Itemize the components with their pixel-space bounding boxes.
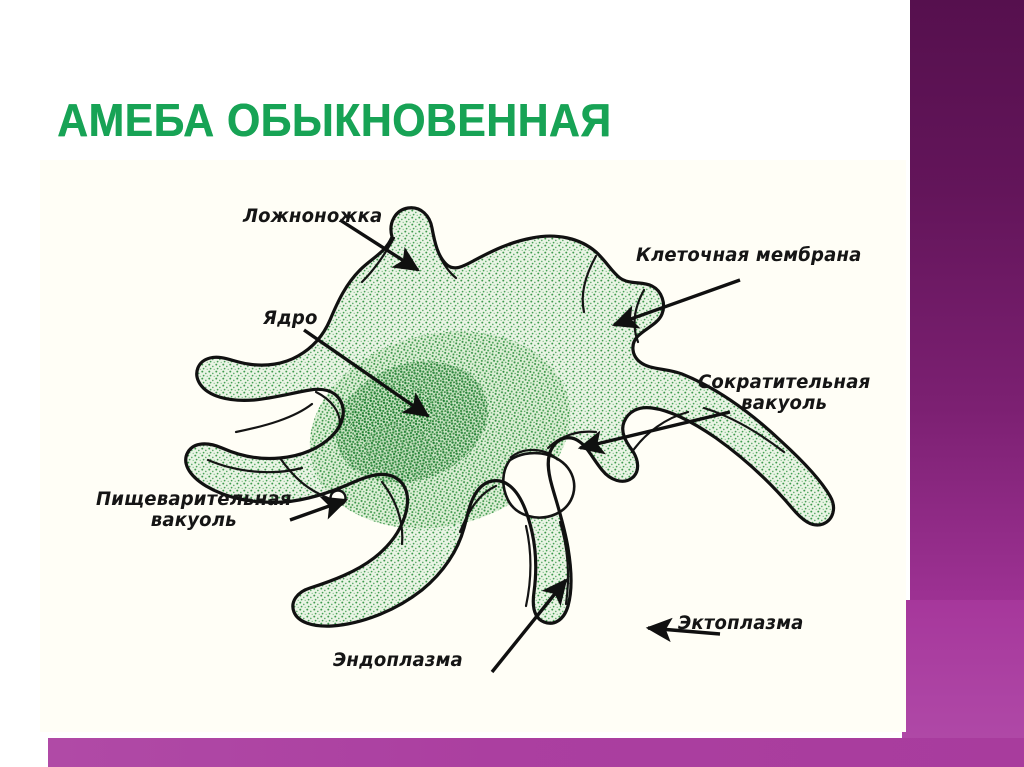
label-digestive-vacuole-line1: Пищеварительная (96, 489, 292, 510)
label-contractile-vacuole-line1: Сократительная (698, 372, 870, 393)
label-nucleus: Ядро (263, 308, 318, 329)
label-contractile-vacuole: Сократительная вакуоль (698, 372, 870, 413)
label-digestive-vacuole: Пищеварительная вакуоль (96, 489, 292, 530)
slide-canvas: АМЕБА ОБЫКНОВЕННАЯ (0, 0, 1024, 767)
bottom-purple-bar (48, 738, 1024, 767)
label-ectoplasm: Эктоплазма (678, 613, 804, 634)
label-pseudopod: Ложноножка (243, 206, 382, 227)
contractile-vacuole-shape (503, 453, 574, 518)
label-endoplasm: Эндоплазма (333, 650, 463, 671)
label-digestive-vacuole-line2: вакуоль (96, 510, 292, 531)
leader-digestive (290, 500, 346, 520)
amoeba-cell (186, 208, 834, 626)
page-title: АМЕБА ОБЫКНОВЕННАЯ (57, 97, 611, 143)
label-contractile-vacuole-line2: вакуоль (698, 393, 870, 414)
label-cell-membrane: Клеточная мембрана (636, 245, 862, 266)
